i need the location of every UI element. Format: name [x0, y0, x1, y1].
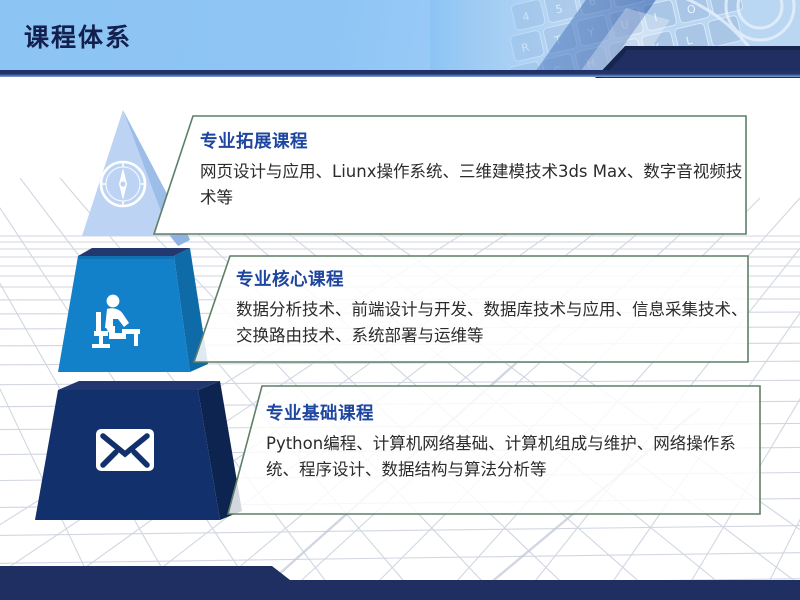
- content-block-foundation-courses: 专业基础课程 Python编程、计算机网络基础、计算机组成与维护、网络操作系统、…: [222, 384, 762, 516]
- content-block-body: 网页设计与应用、Liunx操作系统、三维建模技术3ds Max、数字音视频技术等: [200, 159, 748, 211]
- content-block-heading: 专业基础课程: [266, 400, 762, 425]
- slide-header: 45 67 89 RT YU IO FG HJ KL: [0, 0, 800, 78]
- header-divider: [0, 70, 800, 77]
- slide-footer: [0, 558, 800, 600]
- content-block-core-courses: 专业核心课程 数据分析技术、前端设计与开发、数据库技术与应用、信息采集技术、交换…: [188, 254, 750, 364]
- pyramid-tier-3: [35, 381, 242, 520]
- slide-canvas: 45 67 89 RT YU IO FG HJ KL: [0, 0, 800, 600]
- page-title: 课程体系: [24, 18, 132, 54]
- content-block-heading: 专业核心课程: [236, 266, 750, 291]
- content-block-body: 数据分析技术、前端设计与开发、数据库技术与应用、信息采集技术、交换路由技术、系统…: [236, 297, 750, 349]
- content-block-extension-courses: 专业拓展课程 网页设计与应用、Liunx操作系统、三维建模技术3ds Max、数…: [148, 114, 748, 236]
- content-block-body: Python编程、计算机网络基础、计算机组成与维护、网络操作系统、程序设计、数据…: [266, 431, 762, 483]
- content-block-heading: 专业拓展课程: [200, 128, 748, 153]
- pyramid-tier-2: [58, 248, 208, 372]
